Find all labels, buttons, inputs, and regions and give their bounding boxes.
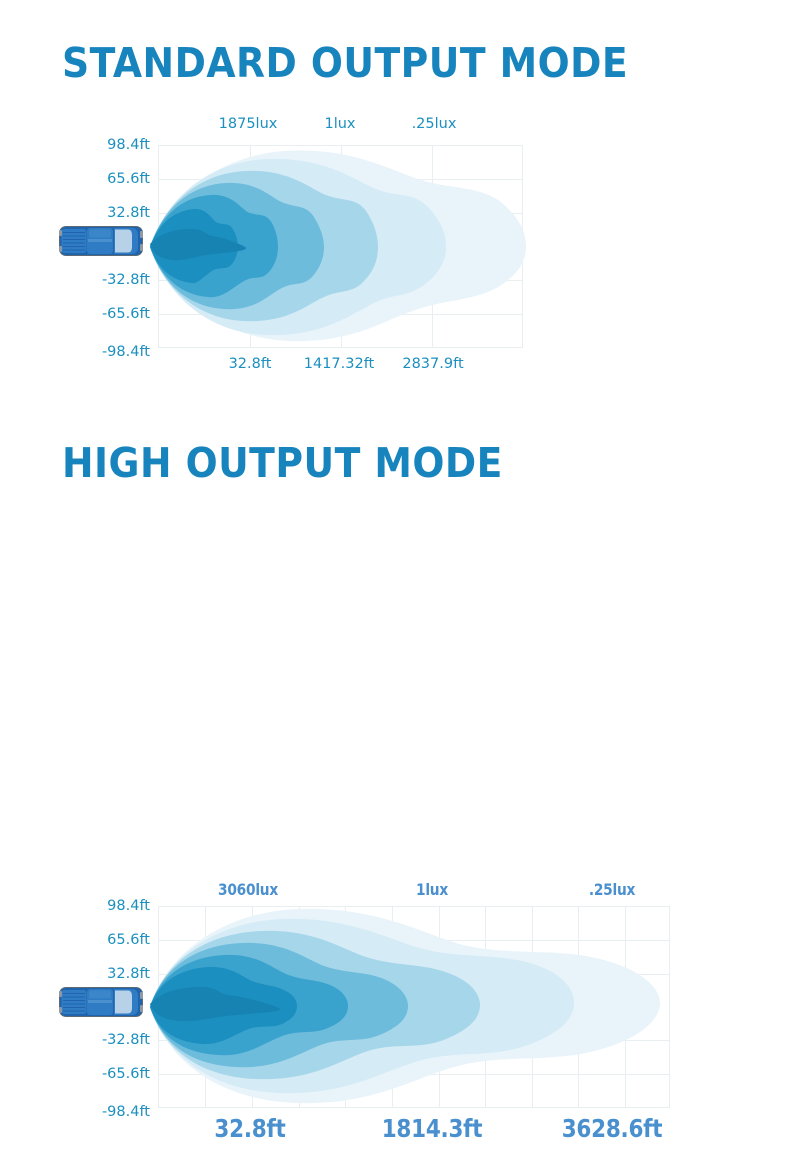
high-output-section: HIGH OUTPUT MODE 3060lux 1lux .25lux 98.… <box>0 400 800 800</box>
pickup-truck-top-view-icon <box>58 984 144 1020</box>
distance-label-1: 32.8ft <box>229 356 272 372</box>
high-mode-title: HIGH OUTPUT MODE <box>62 442 503 484</box>
distance-label-2: 1417.32ft <box>304 356 375 372</box>
standard-output-section: STANDARD OUTPUT MODE 1875lux 1lux .25lux… <box>0 0 800 400</box>
distance-label-3: 2837.9ft <box>402 356 463 372</box>
standard-mode-title: STANDARD OUTPUT MODE <box>62 42 628 84</box>
distance-label-3: 3628.6ft <box>562 1114 663 1143</box>
pickup-truck-top-view-icon <box>58 223 144 259</box>
distance-label-2: 1814.3ft <box>382 1114 483 1143</box>
distance-label-1: 32.8ft <box>214 1114 285 1143</box>
